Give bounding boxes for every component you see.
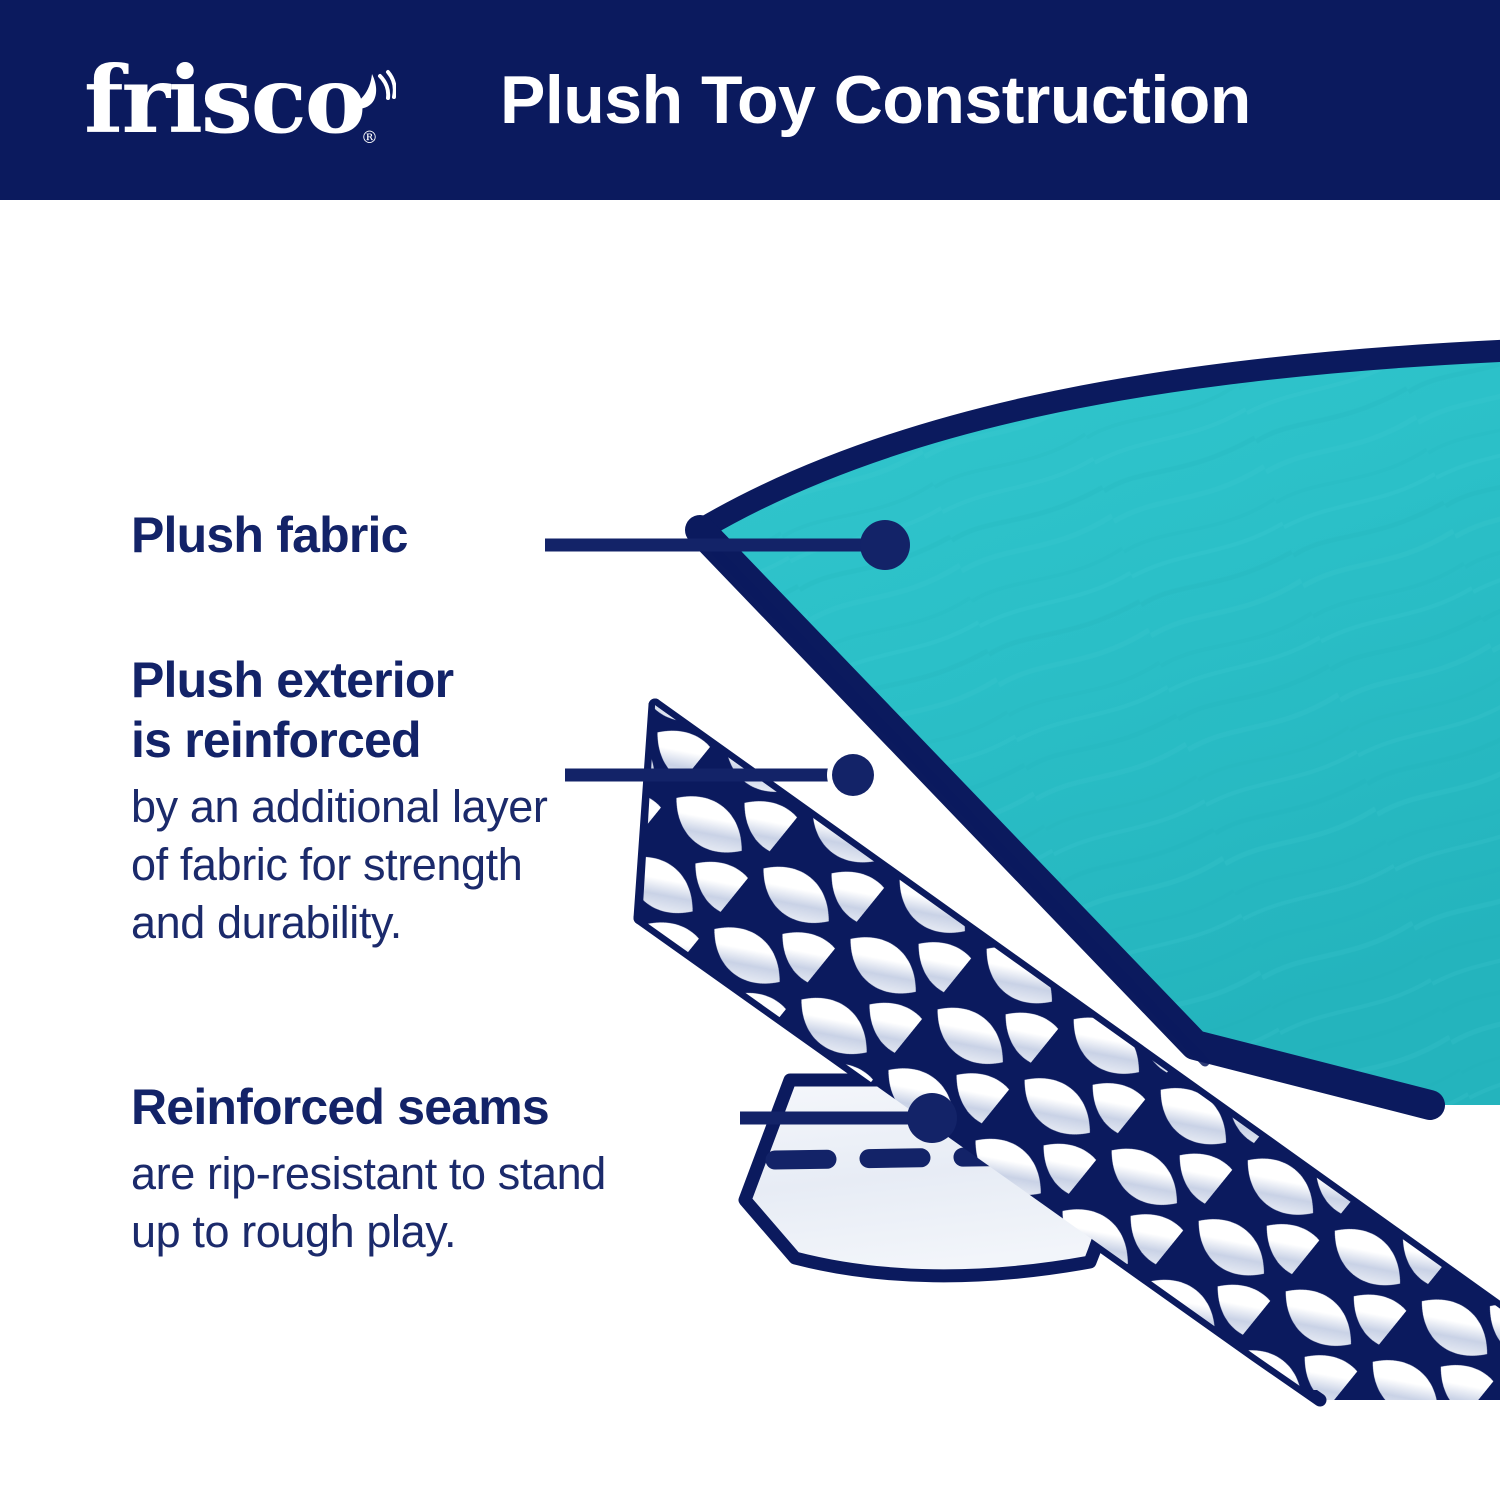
callout-reinforced-seams-body: are rip-resistant to stand up to rough p…: [131, 1145, 791, 1261]
frisco-swoosh-icon: [336, 66, 396, 114]
frisco-logo: frisco ®: [84, 44, 384, 156]
callout-plush-fabric: Plush fabric: [131, 505, 561, 565]
header-bar: frisco ® Plush Toy Construction: [0, 0, 1500, 200]
callout-plush-exterior-body: by an additional layer of fabric for str…: [131, 778, 731, 952]
page-title: Plush Toy Construction: [500, 51, 1400, 149]
infographic-page: frisco ® Plush Toy Construction: [0, 0, 1500, 1500]
callout-reinforced-seams: Reinforced seams are rip-resistant to st…: [131, 1077, 791, 1261]
registered-trademark-mark: ®: [361, 130, 378, 147]
callout-plush-exterior-heading: Plush exterior is reinforced: [131, 650, 731, 770]
frisco-logo-wordmark: frisco: [84, 44, 364, 156]
callout-reinforced-seams-heading: Reinforced seams: [131, 1077, 791, 1137]
callout-plush-fabric-heading: Plush fabric: [131, 505, 561, 565]
callout-plush-exterior-reinforced: Plush exterior is reinforced by an addit…: [131, 650, 731, 952]
